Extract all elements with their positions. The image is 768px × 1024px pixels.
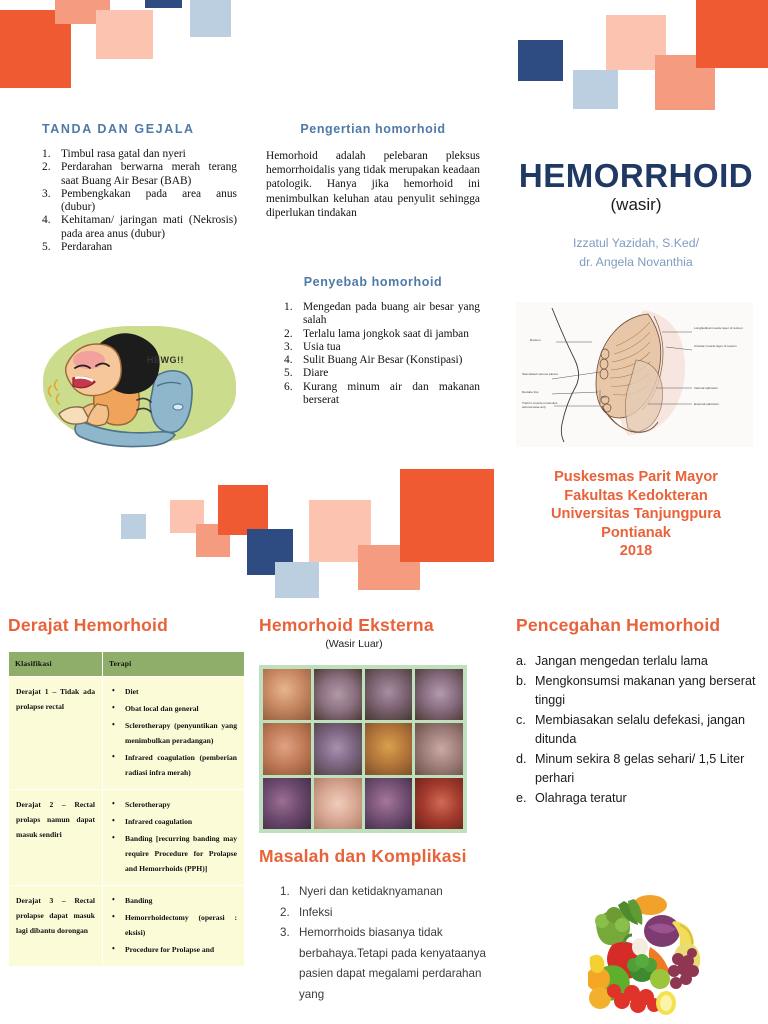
cartoon-caption: HEWG!! bbox=[147, 355, 184, 365]
list-item: e.Olahraga teratur bbox=[516, 789, 756, 809]
institution-block: Puskesmas Parit Mayor Fakultas Kedoktera… bbox=[510, 468, 762, 561]
institution-line-2: Fakultas Kedokteran bbox=[510, 487, 762, 506]
anatomy-label-treitz-muscle: Treitz's muscle (musculus submucosae ani… bbox=[522, 401, 568, 409]
author-line-1: Izzatul Yazidah, S.Ked/ bbox=[510, 234, 762, 253]
panel-penyebab-homorhoid: Penyebab homorhoid 1.Mengedan pada buang… bbox=[266, 275, 480, 407]
anatomy-label-external-sphincter: External sphincter bbox=[694, 402, 750, 406]
svg-text:ALL: ALL bbox=[601, 395, 607, 399]
heading-pengertian-homorhoid: Pengertian homorhoid bbox=[266, 122, 480, 136]
heading-tanda-dan-gejala: TANDA DAN GEJALA bbox=[42, 122, 237, 136]
page-subtitle: (wasir) bbox=[510, 194, 762, 216]
decor-square-lightblue-1 bbox=[190, 0, 231, 37]
photo-cell bbox=[314, 723, 362, 774]
heading-pencegahan-hemorhoid: Pencegahan Hemorhoid bbox=[516, 615, 756, 636]
decor-square-lightblue-4 bbox=[275, 562, 319, 598]
list-marker: c. bbox=[516, 711, 526, 731]
terapi-item: Procedure for Prolapse and bbox=[110, 942, 237, 957]
list-item: d.Minum sekira 8 gelas sehari/ 1,5 Liter… bbox=[516, 750, 756, 789]
list-item: 2.Infeksi bbox=[280, 903, 489, 924]
list-item: a.Jangan mengedan terlalu lama bbox=[516, 652, 756, 672]
list-item: 4.Kehitaman/ jaringan mati (Nekrosis) pa… bbox=[42, 214, 237, 241]
institution-line-5: 2018 bbox=[510, 542, 762, 561]
list-item: 5.Diare bbox=[284, 367, 480, 380]
list-item: 1.Nyeri dan ketidaknyamanan bbox=[280, 882, 489, 903]
cell-terapi: Banding Hemorrhoidectomy (operasi : eksi… bbox=[103, 886, 245, 967]
photo-cell bbox=[314, 669, 362, 720]
institution-line-3: Universitas Tanjungpura bbox=[510, 505, 762, 524]
brochure-page: TANDA DAN GEJALA 1.Timbul rasa gatal dan… bbox=[0, 0, 768, 1024]
subheading-wasir-luar: (Wasir Luar) bbox=[259, 638, 449, 650]
anatomy-label-dentate-line: Dentate line bbox=[522, 390, 566, 394]
decor-square-navy-1 bbox=[145, 0, 182, 8]
decor-square-lightblue-2 bbox=[573, 70, 618, 109]
photo-cell bbox=[365, 723, 413, 774]
list-penyebab: 1.Mengedan pada buang air besar yang sal… bbox=[266, 301, 480, 407]
cell-klasifikasi: Derajat 2 – Rectal prolaps namun dapat m… bbox=[9, 790, 103, 886]
anatomy-label-longitudinal-muscle-layer: Longitudinal muscle layer of rectum bbox=[694, 326, 746, 330]
table-row: Derajat 1 – Tidak ada prolapse rectal Di… bbox=[9, 677, 245, 790]
column-header-klasifikasi: Klasifikasi bbox=[9, 652, 103, 677]
terapi-item: Diet bbox=[110, 684, 237, 699]
list-item: 5.Perdarahan bbox=[42, 241, 237, 254]
list-marker: b. bbox=[516, 672, 527, 692]
list-marker: e. bbox=[516, 789, 527, 809]
panel-title-block: HEMORRHOID (wasir) Izzatul Yazidah, S.Ke… bbox=[510, 158, 762, 272]
author-line-2: dr. Angela Novanthia bbox=[510, 253, 762, 272]
panel-pengertian-homorhoid: Pengertian homorhoid Hemorhoid adalah pe… bbox=[266, 122, 480, 220]
photo-cell bbox=[415, 778, 463, 829]
list-tanda-dan-gejala: 1.Timbul rasa gatal dan nyeri 2.Perdarah… bbox=[42, 148, 237, 254]
photo-cell bbox=[263, 723, 311, 774]
terapi-item: Hemorrhoidectomy (operasi : eksisi) bbox=[110, 910, 237, 940]
list-pencegahan: a.Jangan mengedan terlalu lama b.Mengkon… bbox=[516, 652, 756, 808]
decor-square-orange-4 bbox=[400, 469, 494, 562]
external-hemorrhoid-photo-grid bbox=[259, 665, 467, 833]
list-item: 6.Kurang minum air dan makanan berserat bbox=[284, 381, 480, 408]
table-derajat: Klasifikasi Terapi Derajat 1 – Tidak ada… bbox=[8, 651, 245, 967]
terapi-item: Obat local dan general bbox=[110, 701, 237, 716]
rectum-anatomy-diagram: ALL Rectum Sacculated venous plexus Dent… bbox=[516, 302, 753, 447]
anatomy-label-internal-sphincter: Internal sphincter bbox=[694, 386, 750, 390]
photo-cell bbox=[263, 778, 311, 829]
list-item: 4.Sulit Buang Air Besar (Konstipasi) bbox=[284, 354, 480, 367]
anatomy-label-circular-muscle-layer: Circular muscle layer of rectum bbox=[694, 344, 746, 348]
list-marker: d. bbox=[516, 750, 527, 770]
cell-terapi: Diet Obat local dan general Sclerotherap… bbox=[103, 677, 245, 790]
terapi-item: Sclerotherapy (penyuntikan yang menimbul… bbox=[110, 718, 237, 748]
terapi-item: Infrared coagulation (pemberian radiasi … bbox=[110, 750, 237, 780]
decor-square-lightblue-3 bbox=[121, 514, 146, 539]
list-item: c.Membiasakan selalu defekasi, jangan di… bbox=[516, 711, 756, 750]
list-komplikasi: 1.Nyeri dan ketidaknyamanan 2.Infeksi 3.… bbox=[259, 882, 489, 1005]
straining-toilet-cartoon: HEWG!! bbox=[37, 322, 242, 450]
list-item: 1.Timbul rasa gatal dan nyeri bbox=[42, 148, 237, 161]
list-item: 1.Mengedan pada buang air besar yang sal… bbox=[284, 301, 480, 328]
table-row: Derajat 3 – Rectal prolapse dapat masuk … bbox=[9, 886, 245, 967]
panel-derajat-hemorhoid: Derajat Hemorhoid Klasifikasi Terapi Der… bbox=[8, 615, 248, 967]
page-title: HEMORRHOID bbox=[510, 158, 762, 194]
list-item: 3.Usia tua bbox=[284, 341, 480, 354]
photo-cell bbox=[365, 778, 413, 829]
list-marker: a. bbox=[516, 652, 527, 672]
text-definition: Hemorhoid adalah pelebaran pleksus hemor… bbox=[266, 149, 480, 220]
cell-terapi: Sclerotherapy Infrared coagulation Bandi… bbox=[103, 790, 245, 886]
list-item: 2.Terlalu lama jongkok saat di jamban bbox=[284, 328, 480, 341]
cell-klasifikasi: Derajat 3 – Rectal prolapse dapat masuk … bbox=[9, 886, 103, 967]
photo-cell bbox=[263, 669, 311, 720]
decor-square-peach-1 bbox=[96, 10, 153, 59]
list-item: b.Mengkonsumsi makanan yang berserat tin… bbox=[516, 672, 756, 711]
terapi-item: Infrared coagulation bbox=[110, 814, 237, 829]
heading-derajat-hemorhoid: Derajat Hemorhoid bbox=[8, 615, 248, 636]
anatomy-label-rectum: Rectum bbox=[530, 338, 564, 342]
list-item: 3.Hemorrhoids biasanya tidak berbahaya.T… bbox=[280, 923, 489, 1005]
heading-masalah-komplikasi: Masalah dan Komplikasi bbox=[259, 846, 489, 867]
column-header-terapi: Terapi bbox=[103, 652, 245, 677]
photo-cell bbox=[415, 723, 463, 774]
decor-square-orange-3 bbox=[218, 485, 268, 535]
terapi-item: Sclerotherapy bbox=[110, 797, 237, 812]
photo-cell bbox=[365, 669, 413, 720]
terapi-item: Banding [recurring banding may require P… bbox=[110, 831, 237, 876]
list-item: 3.Pembengkakan pada area anus (dubur) bbox=[42, 188, 237, 215]
panel-hemorhoid-eksterna: Hemorhoid Eksterna (Wasir Luar) bbox=[259, 615, 474, 650]
institution-line-4: Pontianak bbox=[510, 524, 762, 543]
panel-tanda-dan-gejala: TANDA DAN GEJALA 1.Timbul rasa gatal dan… bbox=[42, 122, 237, 254]
cell-klasifikasi: Derajat 1 – Tidak ada prolapse rectal bbox=[9, 677, 103, 790]
table-header-row: Klasifikasi Terapi bbox=[9, 652, 245, 677]
panel-pencegahan-hemorhoid: Pencegahan Hemorhoid a.Jangan mengedan t… bbox=[516, 615, 756, 808]
institution-line-1: Puskesmas Parit Mayor bbox=[510, 468, 762, 487]
anatomy-label-sacculated-venous-plexus: Sacculated venous plexus bbox=[522, 372, 566, 376]
photo-cell bbox=[415, 669, 463, 720]
photo-cell bbox=[314, 778, 362, 829]
terapi-item: Banding bbox=[110, 893, 237, 908]
decor-square-orange-2 bbox=[696, 0, 768, 68]
list-item: 2.Perdarahan berwarna merah terang saat … bbox=[42, 161, 237, 188]
heading-penyebab-homorhoid: Penyebab homorhoid bbox=[266, 275, 480, 289]
table-row: Derajat 2 – Rectal prolaps namun dapat m… bbox=[9, 790, 245, 886]
panel-masalah-komplikasi: Masalah dan Komplikasi 1.Nyeri dan ketid… bbox=[259, 846, 489, 1005]
decor-square-navy-2 bbox=[518, 40, 563, 81]
fruits-vegetables-photo bbox=[588, 895, 718, 1015]
heading-hemorhoid-eksterna: Hemorhoid Eksterna bbox=[259, 615, 474, 636]
